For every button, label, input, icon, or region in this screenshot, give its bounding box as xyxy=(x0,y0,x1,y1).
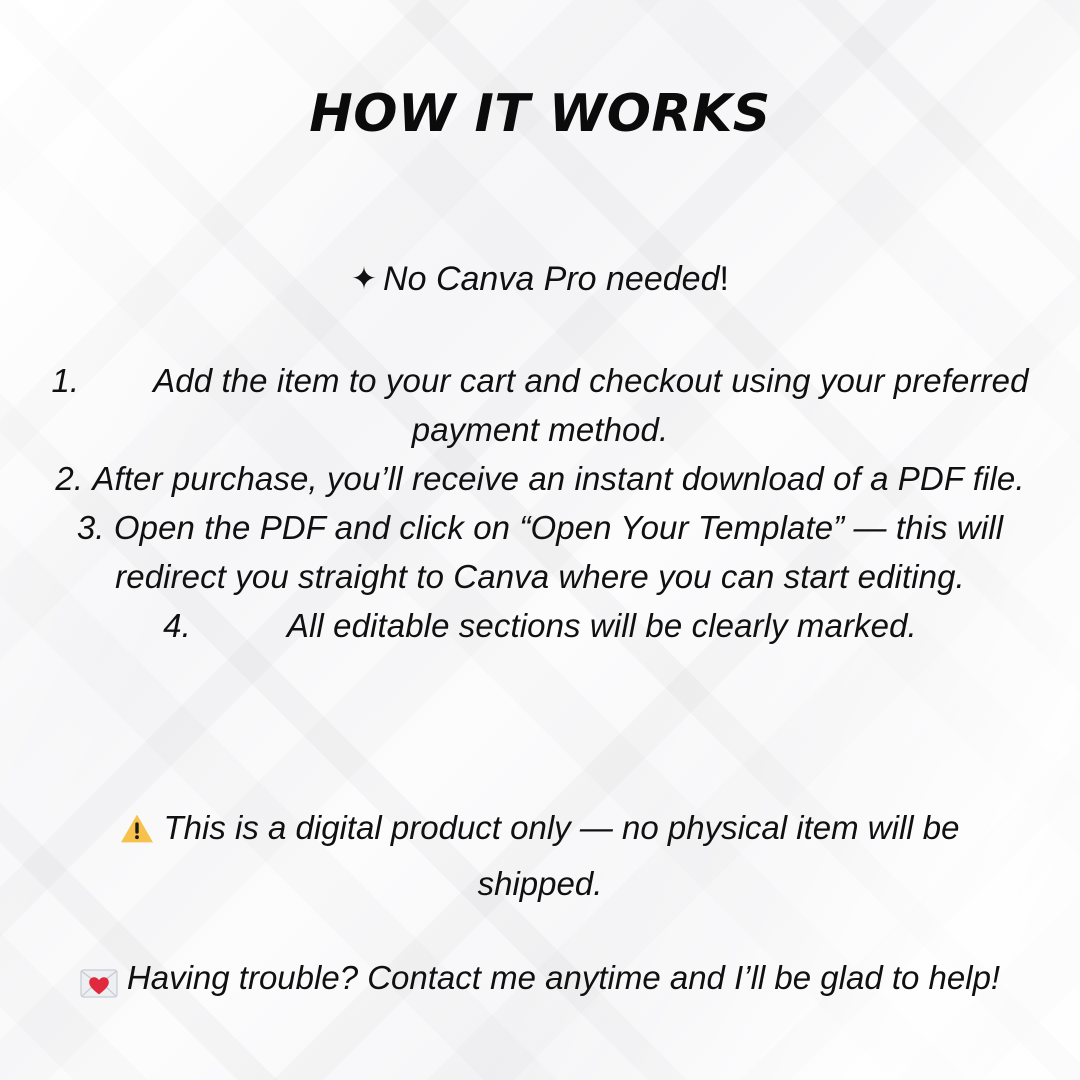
list-item: 1.Add the item to your cart and checkout… xyxy=(40,356,1040,454)
step-text: Open the PDF and click on “Open Your Tem… xyxy=(114,509,1003,595)
list-item: 4.All editable sections will be clearly … xyxy=(40,601,1040,650)
step-number: 2. xyxy=(55,460,83,497)
love-letter-icon xyxy=(80,957,118,1008)
contact-line: Having trouble? Contact me anytime and I… xyxy=(40,952,1040,1008)
page-title: HOW IT WORKS xyxy=(0,86,1080,142)
list-item: 2. After purchase, you’ll receive an ins… xyxy=(40,454,1040,503)
list-item: 3. Open the PDF and click on “Open Your … xyxy=(40,503,1040,601)
step-number: 1. xyxy=(51,362,79,399)
step-number: 4. xyxy=(163,607,191,644)
step-text: All editable sections will be clearly ma… xyxy=(287,607,917,644)
tagline-exclamation: ! xyxy=(719,260,728,298)
step-text: After purchase, you’ll receive an instan… xyxy=(92,460,1024,497)
tagline: ✦No Canva Pro needed! xyxy=(0,258,1080,301)
steps-list: 1.Add the item to your cart and checkout… xyxy=(40,356,1040,650)
digital-product-notice: This is a digital product only — no phys… xyxy=(70,802,1010,909)
tagline-text: No Canva Pro needed xyxy=(383,260,719,298)
warning-triangle-icon xyxy=(120,807,154,858)
contact-text: Having trouble? Contact me anytime and I… xyxy=(127,959,1000,996)
slide-canvas: HOW IT WORKS ✦No Canva Pro needed! 1.Add… xyxy=(0,0,1080,1080)
notice-text: This is a digital product only — no phys… xyxy=(163,809,959,902)
four-pointed-star-icon: ✦ xyxy=(351,261,377,296)
step-text: Add the item to your cart and checkout u… xyxy=(153,362,1028,448)
step-number: 3. xyxy=(77,509,105,546)
